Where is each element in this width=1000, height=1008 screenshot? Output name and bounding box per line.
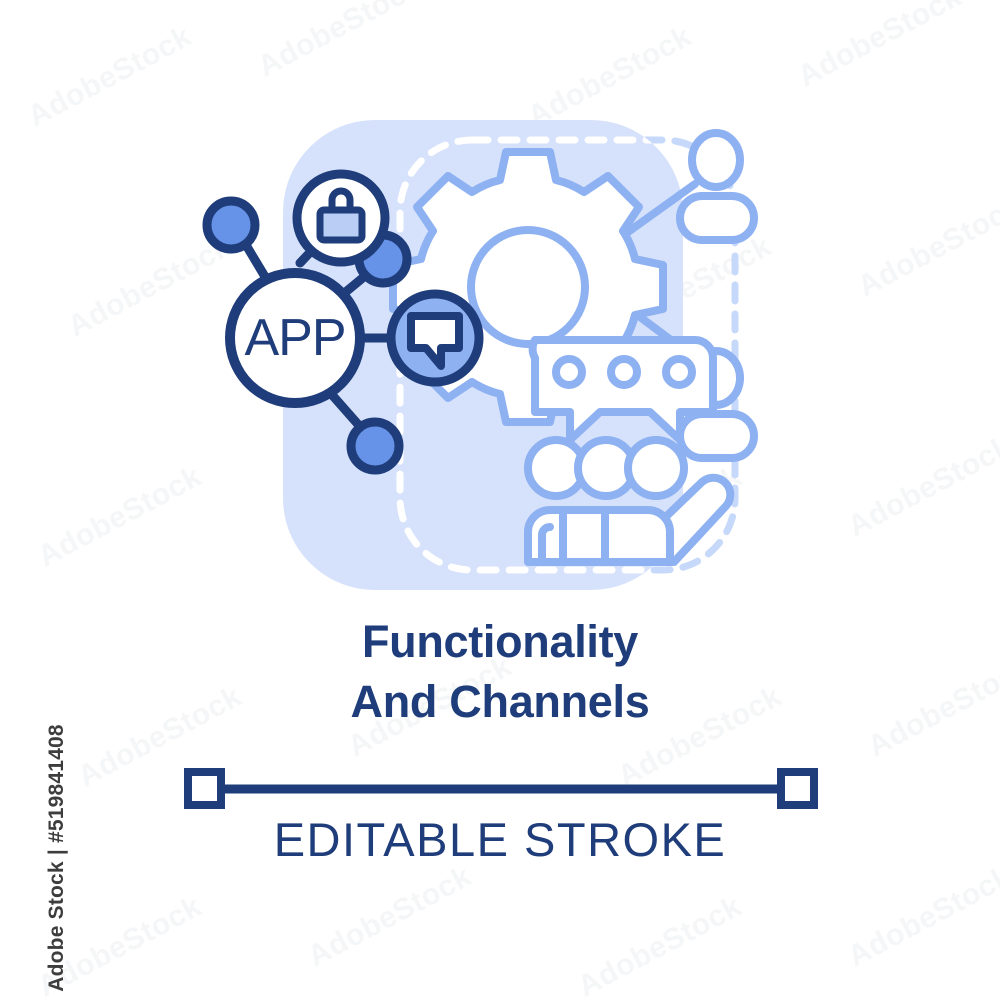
watermark-tile: AdobeStock <box>843 430 1000 545</box>
bubble-dot <box>556 359 582 385</box>
stroke-bar-endpoint-right <box>781 772 814 805</box>
audience-bodies <box>528 510 670 562</box>
watermark-tile: AdobeStock <box>573 890 748 1005</box>
bubble-dot <box>611 359 637 385</box>
app-hub-node: APP <box>230 273 360 403</box>
page-title: Functionality And Channels <box>0 612 1000 732</box>
watermark-tile: AdobeStock <box>853 190 1000 305</box>
node-dot-bottom <box>351 422 399 470</box>
editable-stroke-caption: EDITABLE STROKE <box>0 812 1000 867</box>
adobe-stock-watermark: Adobe Stock | #519841408 <box>45 708 69 1008</box>
concept-illustration: APP <box>150 100 850 600</box>
node-chat <box>391 294 479 382</box>
audience-head <box>628 440 684 496</box>
app-hub-label: APP <box>244 309 345 367</box>
page-title-line-1: Functionality <box>0 612 1000 672</box>
bubble-dot <box>666 359 692 385</box>
watermark-tile: AdobeStock <box>303 860 478 975</box>
watermark-tile: AdobeStock <box>843 860 1000 975</box>
node-briefcase <box>297 174 385 262</box>
node-dot-top-left <box>207 201 255 249</box>
watermark-tile: AdobeStock <box>253 0 428 84</box>
stroke-bar-endpoint-left <box>188 772 221 805</box>
canvas: AdobeStock AdobeStock AdobeStock AdobeSt… <box>0 0 1000 1000</box>
page-title-line-2: And Channels <box>0 672 1000 732</box>
watermark-tile: AdobeStock <box>793 0 968 94</box>
